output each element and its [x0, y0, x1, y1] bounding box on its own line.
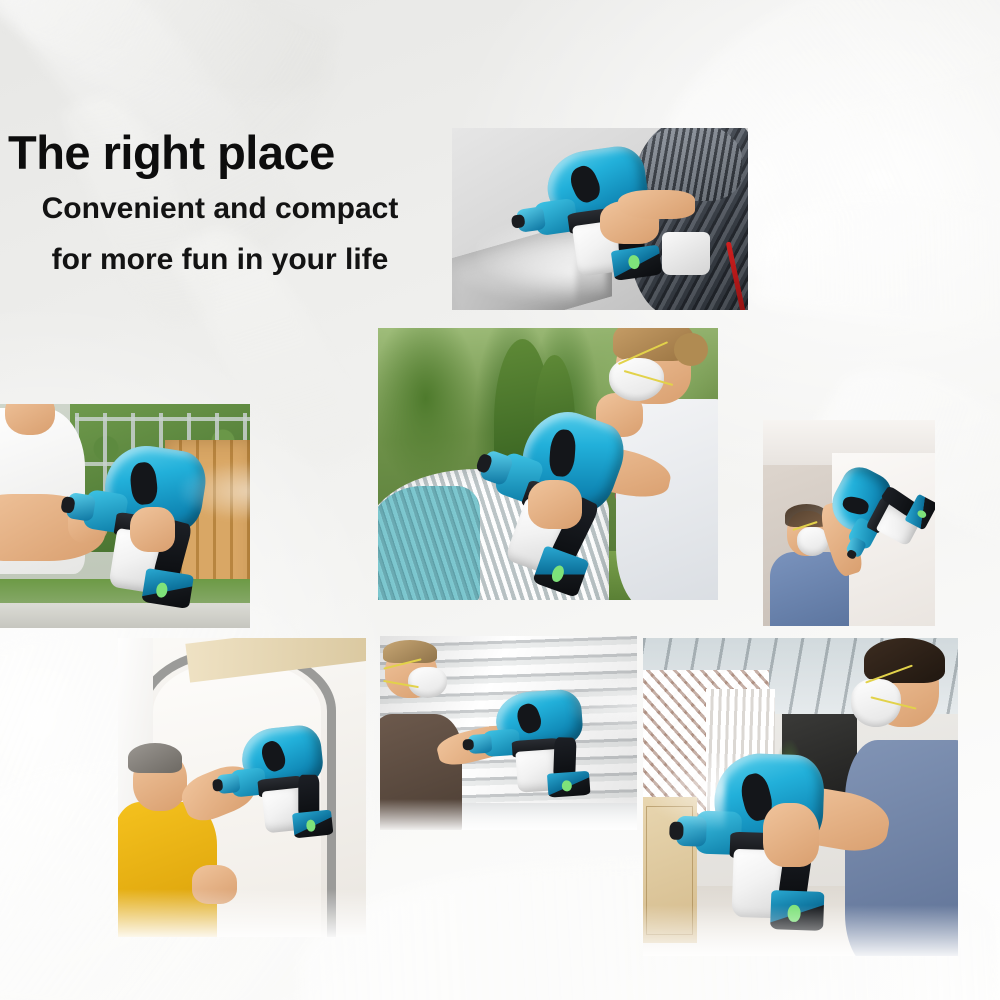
photo-spraying-wicker-chair: [378, 328, 718, 600]
product-banner: The right place Convenient and compact f…: [0, 0, 1000, 1000]
subtitle-line-2: for more fun in your life: [8, 239, 460, 280]
headline-block: The right place Convenient and compact f…: [8, 128, 460, 281]
photo-spraying-ceiling: [763, 420, 935, 626]
page-title: The right place: [8, 128, 460, 178]
photo-spraying-lattice-fence: [643, 638, 958, 956]
photo-spraying-wooden-fence: [0, 404, 250, 628]
photo-spraying-in-protective-suit: [452, 128, 748, 310]
subtitle-line-1: Convenient and compact: [8, 188, 460, 229]
photo-spraying-louvered-wall: [380, 636, 637, 830]
photo-spraying-doorway-arch: [118, 638, 366, 937]
sprayer-icon: [216, 715, 357, 853]
